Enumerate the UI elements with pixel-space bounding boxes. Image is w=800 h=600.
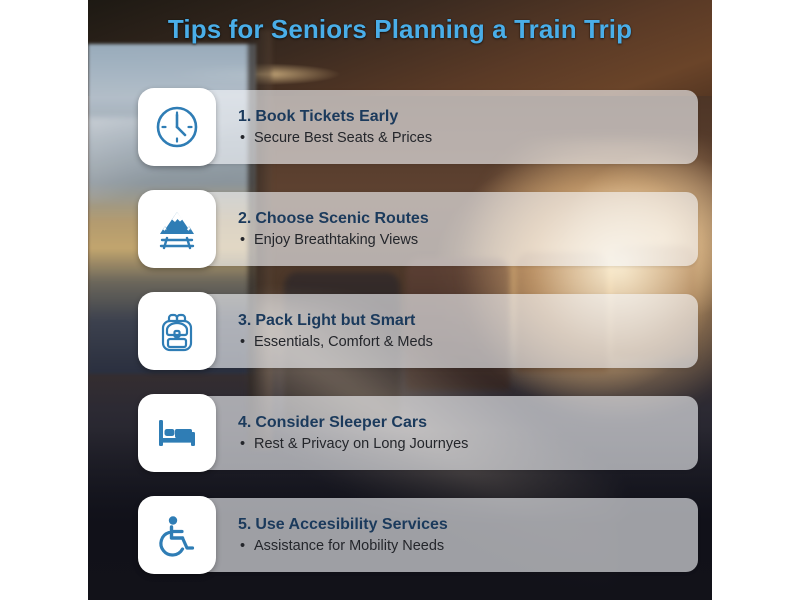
tip-icon-tile (138, 88, 216, 166)
tip-bullet: Secure Best Seats & Prices (238, 129, 698, 148)
page-title: Tips for Seniors Planning a Train Trip (88, 14, 712, 45)
tip-icon-tile (138, 292, 216, 370)
tip-bullet: Assistance for Mobility Needs (238, 537, 698, 556)
tip-icon-tile (138, 190, 216, 268)
tip-heading-label: Choose Scenic Routes (255, 210, 428, 227)
tip-number: 5. (238, 516, 251, 533)
tip-icon-tile (138, 394, 216, 472)
tip-icon-tile (138, 496, 216, 574)
infographic-poster: Tips for Seniors Planning a Train Trip (88, 0, 712, 600)
tip-text-block: 4.Consider Sleeper Cars Rest & Privacy o… (216, 394, 698, 472)
tip-heading: 1.Book Tickets Early (238, 107, 698, 127)
tip-heading: 3.Pack Light but Smart (238, 311, 698, 331)
backpack-icon (152, 306, 202, 356)
page-canvas: Tips for Seniors Planning a Train Trip (0, 0, 800, 600)
tip-bullet: Rest & Privacy on Long Journyes (238, 435, 698, 454)
tip-heading: 2.Choose Scenic Routes (238, 209, 698, 229)
list-item: 4.Consider Sleeper Cars Rest & Privacy o… (138, 394, 698, 472)
mountain-railway-icon (152, 204, 202, 254)
tip-heading-label: Book Tickets Early (255, 108, 398, 125)
tip-bullet: Essentials, Comfort & Meds (238, 333, 698, 352)
tip-bullet: Enjoy Breathtaking Views (238, 231, 698, 250)
tip-heading-label: Pack Light but Smart (255, 312, 415, 329)
list-item: 2.Choose Scenic Routes Enjoy Breathtakin… (138, 190, 698, 268)
tip-number: 4. (238, 414, 251, 431)
tip-number: 2. (238, 210, 251, 227)
tip-number: 3. (238, 312, 251, 329)
list-item: 3.Pack Light but Smart Essentials, Comfo… (138, 292, 698, 370)
tip-heading: 4.Consider Sleeper Cars (238, 413, 698, 433)
tip-number: 1. (238, 108, 251, 125)
tip-heading-label: Consider Sleeper Cars (255, 414, 427, 431)
clock-icon (152, 102, 202, 152)
tip-heading: 5.Use Accesibility Services (238, 515, 698, 535)
wheelchair-accessibility-icon (152, 510, 202, 560)
list-item: 5.Use Accesibility Services Assistance f… (138, 496, 698, 574)
tip-text-block: 2.Choose Scenic Routes Enjoy Breathtakin… (216, 190, 698, 268)
list-item: 1.Book Tickets Early Secure Best Seats &… (138, 88, 698, 166)
tip-heading-label: Use Accesibility Services (255, 516, 447, 533)
tip-text-block: 5.Use Accesibility Services Assistance f… (216, 496, 698, 574)
tip-text-block: 3.Pack Light but Smart Essentials, Comfo… (216, 292, 698, 370)
tip-text-block: 1.Book Tickets Early Secure Best Seats &… (216, 88, 698, 166)
bed-icon (152, 408, 202, 458)
tips-list: 1.Book Tickets Early Secure Best Seats &… (138, 88, 698, 598)
